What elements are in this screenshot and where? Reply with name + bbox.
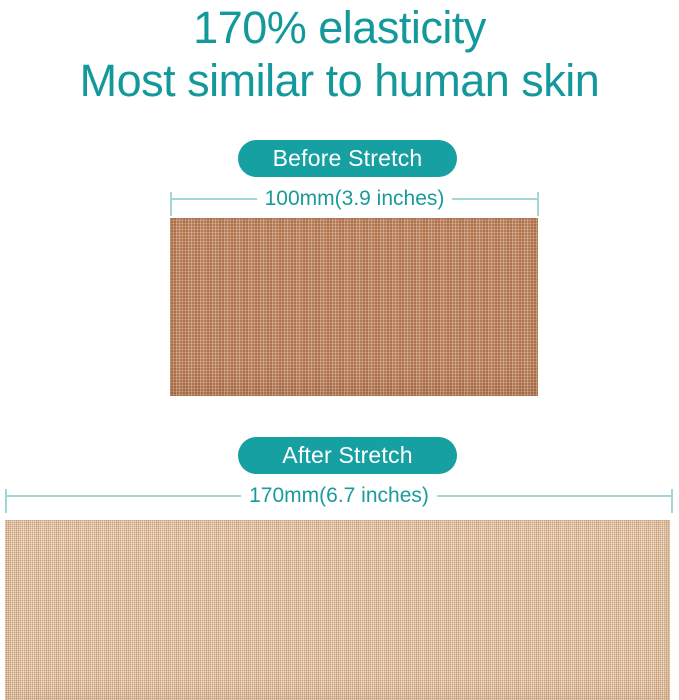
headline-line-2: Most similar to human skin	[0, 55, 679, 107]
badge-before-stretch: Before Stretch	[238, 140, 457, 177]
fabric-swatch-before-stretch	[170, 218, 538, 396]
dimension-tick-left-before	[170, 192, 172, 216]
dimension-line-before: 100mm(3.9 inches)	[170, 182, 539, 216]
dimension-label-before: 100mm(3.9 inches)	[257, 182, 453, 216]
headline-line-1: 170% elasticity	[0, 2, 679, 54]
dimension-tick-left-after	[5, 489, 7, 513]
infographic-canvas: 170% elasticity Most similar to human sk…	[0, 0, 679, 700]
dimension-line-after: 170mm(6.7 inches)	[5, 479, 673, 513]
dimension-tick-right-after	[671, 489, 673, 513]
fabric-swatch-after-stretch	[5, 520, 670, 700]
dimension-label-after: 170mm(6.7 inches)	[241, 479, 437, 513]
badge-after-stretch: After Stretch	[238, 437, 457, 474]
dimension-tick-right-before	[537, 192, 539, 216]
